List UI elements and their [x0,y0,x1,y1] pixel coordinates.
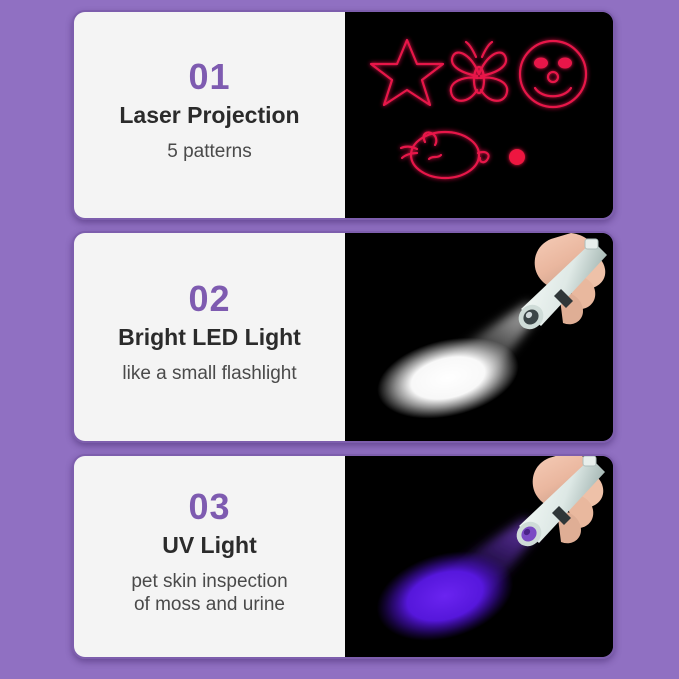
feature-card-bright-led-light: 02 Bright LED Light like a small flashli… [72,231,615,443]
card-text-panel: 03 UV Light pet skin inspection of moss … [74,456,345,657]
card-title: Laser Projection [119,102,299,130]
infographic-board: 01 Laser Projection 5 patterns [0,0,679,679]
card-number: 03 [188,487,230,527]
feature-card-uv-light: 03 UV Light pet skin inspection of moss … [72,454,615,659]
card-title: UV Light [162,532,257,560]
card-number: 01 [188,57,230,97]
laser-pattern-dot [509,149,525,165]
card-subtitle-line-1: pet skin inspection [131,571,287,592]
led-torch-svg [345,233,613,441]
feature-card-laser-projection: 01 Laser Projection 5 patterns [72,10,615,220]
card-text-panel: 02 Bright LED Light like a small flashli… [74,233,345,441]
card-number: 02 [188,279,230,319]
uv-torch-svg [345,456,613,657]
laser-patterns-image [345,12,613,218]
led-flashlight-image [345,233,613,441]
card-text-panel: 01 Laser Projection 5 patterns [74,12,345,218]
uv-flashlight-image [345,456,613,657]
card-title: Bright LED Light [118,324,301,352]
card-subtitle: pet skin inspection of moss and urine [131,570,287,616]
laser-pattern-svg [345,12,613,218]
card-subtitle: like a small flashlight [122,362,296,385]
card-subtitle-line-2: of moss and urine [134,594,285,615]
card-subtitle: 5 patterns [167,140,252,163]
